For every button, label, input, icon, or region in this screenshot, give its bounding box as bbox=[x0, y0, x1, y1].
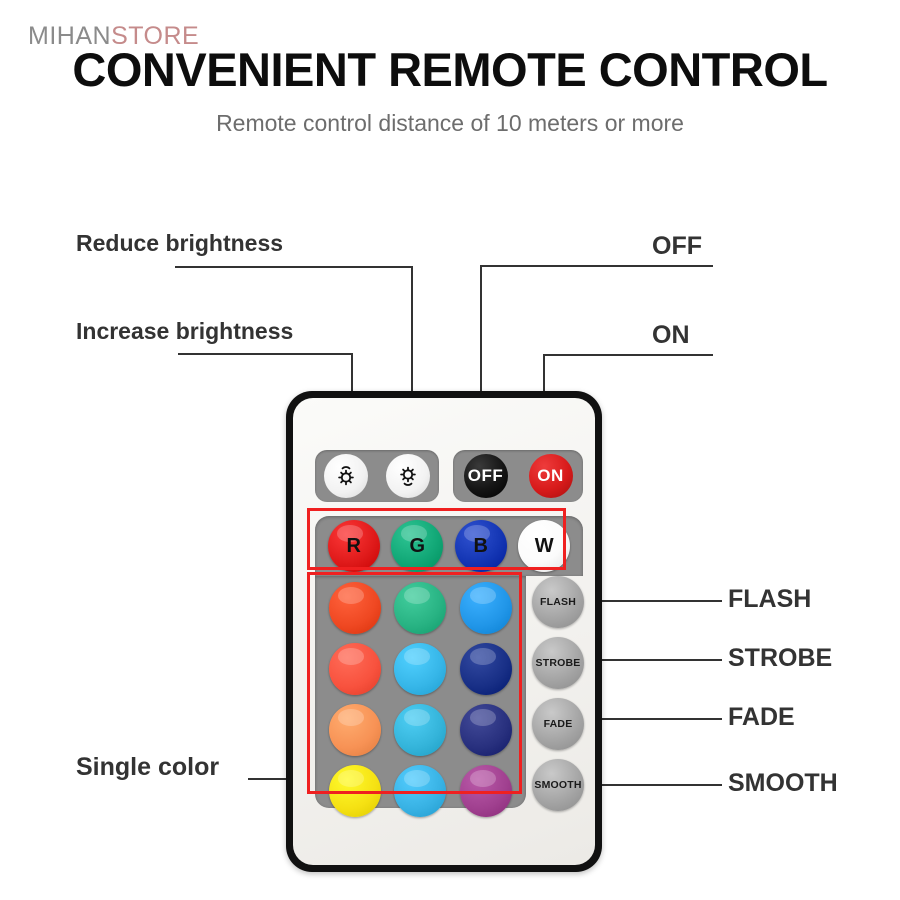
callout-label-increase-brightness: Increase brightness bbox=[76, 320, 293, 343]
single-color-button[interactable] bbox=[329, 643, 381, 695]
off-button[interactable]: OFF bbox=[464, 454, 508, 498]
callout-label-strobe: STROBE bbox=[728, 646, 832, 671]
power-button-pad: OFF ON bbox=[453, 450, 583, 502]
single-color-button[interactable] bbox=[394, 582, 446, 634]
single-color-grid bbox=[322, 582, 519, 817]
page-subtitle: Remote control distance of 10 meters or … bbox=[0, 110, 900, 137]
brightness-down-button[interactable] bbox=[324, 454, 368, 498]
single-color-button[interactable] bbox=[460, 704, 512, 756]
remote-faceplate: OFF ON R G B W bbox=[293, 398, 595, 865]
callout-label-fade: FADE bbox=[728, 705, 795, 730]
flash-button[interactable]: FLASH bbox=[532, 576, 584, 628]
brightness-up-button[interactable] bbox=[386, 454, 430, 498]
remote-top-button-row: OFF ON bbox=[315, 450, 583, 502]
strobe-button[interactable]: STROBE bbox=[532, 637, 584, 689]
callout-label-flash: FLASH bbox=[728, 587, 811, 612]
single-color-button[interactable] bbox=[394, 765, 446, 817]
color-button-r-label: R bbox=[328, 520, 380, 572]
sun-increase-icon bbox=[394, 462, 422, 490]
fade-button[interactable]: FADE bbox=[532, 698, 584, 750]
color-button-b-label: B bbox=[455, 520, 507, 572]
color-button-g-label: G bbox=[391, 520, 443, 572]
color-button-b[interactable]: B bbox=[455, 520, 507, 572]
rgbw-button-row: R G B W bbox=[322, 520, 576, 572]
color-button-r[interactable]: R bbox=[328, 520, 380, 572]
color-button-w-label: W bbox=[518, 520, 570, 572]
sun-decrease-icon bbox=[332, 462, 360, 490]
on-button[interactable]: ON bbox=[529, 454, 573, 498]
single-color-keypad bbox=[315, 576, 526, 808]
single-color-button[interactable] bbox=[329, 704, 381, 756]
single-color-button[interactable] bbox=[460, 765, 512, 817]
color-button-g[interactable]: G bbox=[391, 520, 443, 572]
callout-label-on: ON bbox=[652, 323, 690, 348]
callout-label-reduce-brightness: Reduce brightness bbox=[76, 232, 283, 255]
remote-control-device: OFF ON R G B W bbox=[286, 391, 602, 872]
single-color-button[interactable] bbox=[329, 765, 381, 817]
single-color-button[interactable] bbox=[394, 704, 446, 756]
single-color-button[interactable] bbox=[394, 643, 446, 695]
callout-label-smooth: SMOOTH bbox=[728, 771, 838, 796]
promo-image-canvas: MIHANSTORE CONVENIENT REMOTE CONTROL Rem… bbox=[0, 0, 900, 900]
page-title: CONVENIENT REMOTE CONTROL bbox=[0, 45, 900, 94]
smooth-button[interactable]: SMOOTH bbox=[532, 759, 584, 811]
callout-label-off: OFF bbox=[652, 234, 702, 259]
single-color-button[interactable] bbox=[460, 643, 512, 695]
single-color-button[interactable] bbox=[329, 582, 381, 634]
rgbw-button-pad: R G B W bbox=[315, 516, 583, 576]
callout-label-single-color: Single color bbox=[76, 755, 219, 780]
mode-button-column: FLASH STROBE FADE SMOOTH bbox=[532, 576, 586, 811]
single-color-button[interactable] bbox=[460, 582, 512, 634]
color-button-w[interactable]: W bbox=[518, 520, 570, 572]
brightness-button-pad bbox=[315, 450, 439, 502]
